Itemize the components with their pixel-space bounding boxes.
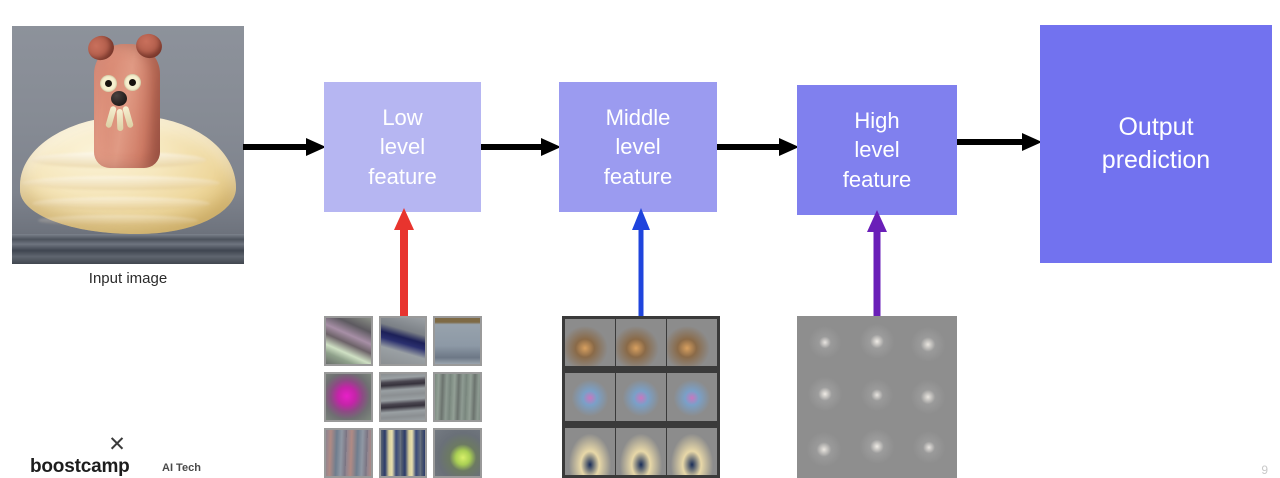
feature-tile (852, 319, 902, 370)
logo-x-mark-icon: ✕ (106, 434, 128, 456)
feature-tile (379, 372, 428, 422)
input-photo (12, 26, 244, 264)
slide-canvas: Input image Low level feature Middle lev… (0, 0, 1280, 478)
logo-sub-brand-text: AI Tech (162, 462, 201, 474)
input-image-container (12, 26, 244, 264)
feature-tile (324, 316, 373, 366)
feature-tile (800, 424, 850, 475)
input-image-caption: Input image (12, 270, 244, 287)
high-feature-up-arrow-icon (866, 210, 888, 316)
feature-tile (904, 372, 954, 423)
photo-table-surface (12, 234, 244, 264)
flow-arrow-low-to-middle-icon (481, 136, 561, 158)
footer-logo: ✕ boostcamp AI Tech (14, 432, 244, 478)
flow-arrow-input-to-low-icon (243, 136, 326, 158)
feature-tile (616, 428, 666, 475)
feature-tile (667, 319, 717, 366)
feature-tile (379, 316, 428, 366)
feature-tile (616, 319, 666, 366)
photo-dog-nose (111, 91, 127, 106)
feature-tile (904, 424, 954, 475)
feature-tile (324, 372, 373, 422)
logo-brand-text: boostcamp (30, 456, 130, 478)
photo-dog-eye-right (124, 74, 141, 91)
feature-tile (852, 424, 902, 475)
feature-tile (904, 319, 954, 370)
feature-tile (565, 319, 615, 366)
stage-box-high-level-feature[interactable]: High level feature (797, 85, 957, 215)
photo-bun-layer (38, 215, 198, 226)
stage-box-middle-level-feature[interactable]: Middle level feature (559, 82, 717, 212)
feature-tile (433, 316, 482, 366)
feature-tile (667, 428, 717, 475)
feature-tile (800, 372, 850, 423)
photo-dog-eye-left (100, 75, 117, 92)
high-level-feature-grid (797, 316, 957, 478)
feature-tile (324, 428, 373, 478)
low-feature-up-arrow-icon (393, 208, 415, 316)
photo-bun-layer (22, 176, 220, 190)
feature-tile (565, 373, 615, 420)
feature-tile (800, 319, 850, 370)
low-level-feature-grid (324, 316, 482, 478)
photo-dog-whisker (117, 109, 124, 131)
middle-level-feature-grid (562, 316, 720, 478)
stage-box-output-prediction[interactable]: Output prediction (1040, 25, 1272, 263)
stage-box-low-level-feature[interactable]: Low level feature (324, 82, 481, 212)
feature-tile (616, 373, 666, 420)
feature-tile (433, 372, 482, 422)
feature-tile (852, 372, 902, 423)
feature-tile (379, 428, 428, 478)
flow-arrow-middle-to-high-icon (717, 136, 799, 158)
feature-tile (433, 428, 482, 478)
feature-tile (667, 373, 717, 420)
feature-tile (565, 428, 615, 475)
photo-bun-layer (32, 197, 210, 210)
middle-feature-up-arrow-icon (630, 208, 652, 316)
flow-arrow-high-to-output-icon (957, 131, 1042, 153)
page-number: 9 (1261, 463, 1268, 477)
